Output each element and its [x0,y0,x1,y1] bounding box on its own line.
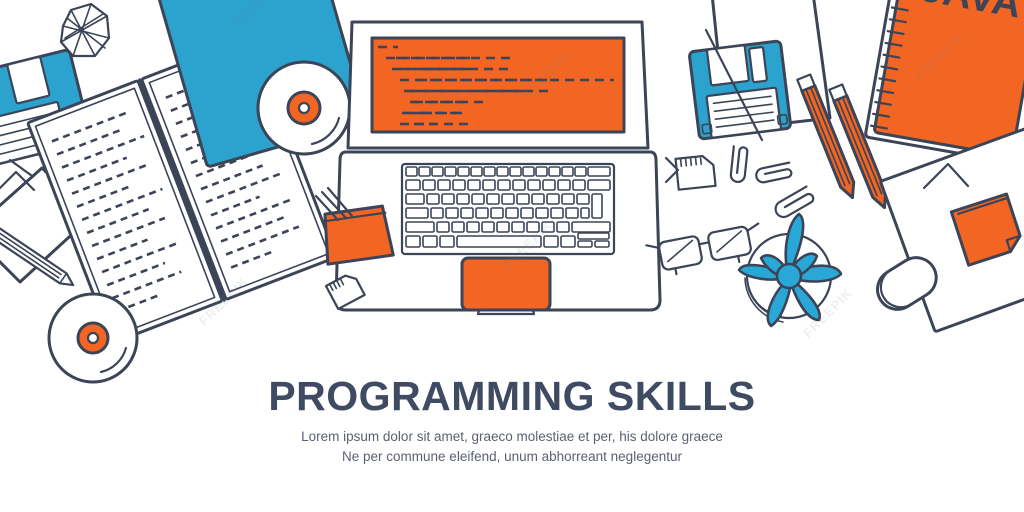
laptop [336,22,660,314]
paper-clip-1 [730,146,748,182]
paper-clip-2 [755,163,792,184]
sd-card-right [676,155,716,190]
compact-disc-top [258,62,350,154]
laptop-trackpad [462,258,550,310]
subtitle-line-2: Ne per commune eleifend, unum abhorreant… [0,447,1024,467]
globe-wireframe-icon [61,4,109,56]
illustration-banner: .ln{fill:none;stroke:#3C4457;stroke-widt… [0,0,1024,512]
page-title: PROGRAMMING SKILLS [0,376,1024,417]
floppy-disk-right [689,41,791,140]
compact-disc-bottom-left [49,294,137,382]
subtitle-line-1: Lorem ipsum dolor sit amet, graeco moles… [0,427,1024,447]
paper-clip-3 [773,186,815,220]
potted-plant [739,214,841,326]
